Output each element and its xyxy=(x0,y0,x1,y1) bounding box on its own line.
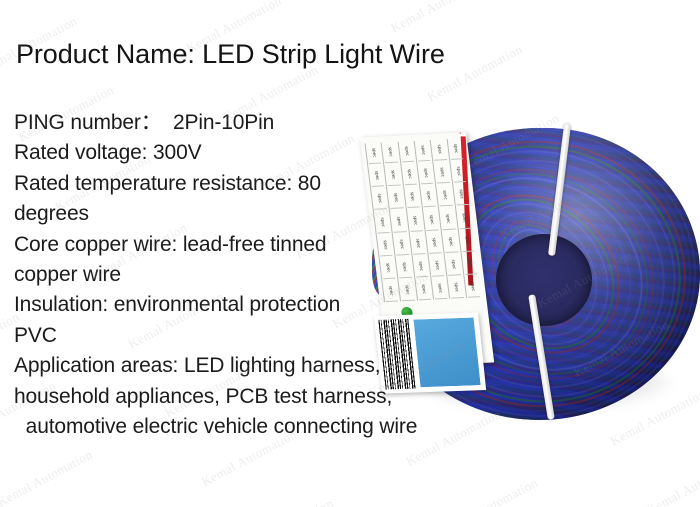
label-grid-cell: spec xyxy=(449,277,464,299)
watermark-text: Kemal Automation xyxy=(629,476,700,507)
watermark-text: Kemal Automation xyxy=(95,0,299,35)
label-cell-text: spec xyxy=(470,282,475,292)
watermark-text: Kemal Automation xyxy=(184,448,388,507)
coil-center-hole xyxy=(496,234,592,326)
label-cell-text: spec xyxy=(461,213,466,223)
label-cell-text: spec xyxy=(454,282,459,292)
spec-line: household appliances, PCB test harness, xyxy=(14,382,444,412)
label-cell-text: spec xyxy=(448,236,453,246)
spec-line: degrees xyxy=(14,199,444,229)
label-grid-cell: spec xyxy=(451,161,466,183)
label-grid-cell: spec xyxy=(443,231,458,253)
label-cell-text: spec xyxy=(467,259,472,269)
label-cell-text: spec xyxy=(445,213,450,223)
label-grid-cell: spec xyxy=(465,276,480,298)
spec-line: Application areas: LED lighting harness, xyxy=(14,351,444,381)
label-cell-text: spec xyxy=(451,259,456,269)
spec-line: automotive electric vehicle connecting w… xyxy=(14,412,444,442)
spec-line: Rated temperature resistance: 80 xyxy=(14,169,444,199)
label-grid-cell: spec xyxy=(457,207,472,229)
label-cell-text: spec xyxy=(459,190,464,200)
label-grid-cell: spec xyxy=(454,184,469,206)
watermark-text: Kemal Automation xyxy=(0,124,1,282)
product-image-canvas: KEMAL specspecspecspecspecspecspecspecsp… xyxy=(0,0,700,507)
watermark-text: Kemal Automation xyxy=(300,0,504,15)
label-grid-cell: spec xyxy=(462,253,477,275)
spec-line: copper wire xyxy=(14,260,444,290)
label-grid-cell: spec xyxy=(460,230,475,252)
spec-line: Rated voltage: 300V xyxy=(14,138,444,168)
specification-list: PING number： 2Pin-10PinRated voltage: 30… xyxy=(14,108,444,442)
page-title: Product Name: LED Strip Light Wire xyxy=(16,38,445,70)
watermark-text: Kemal Automation xyxy=(0,468,184,507)
spec-line: PING number： 2Pin-10Pin xyxy=(14,108,444,138)
spec-line: PVC xyxy=(14,321,444,351)
spec-line: Insulation: environmental protection xyxy=(14,290,444,320)
label-cell-text: spec xyxy=(456,167,461,177)
label-cell-text: spec xyxy=(453,144,458,154)
watermark-text: Kemal Automation xyxy=(425,497,629,507)
label-grid-cell: spec xyxy=(448,138,463,160)
spec-line: Core copper wire: lead-free tinned xyxy=(14,230,444,260)
label-grid-cell: spec xyxy=(446,254,461,276)
label-cell-text: spec xyxy=(464,236,469,246)
label-brand-text: KEMAL xyxy=(455,132,464,134)
